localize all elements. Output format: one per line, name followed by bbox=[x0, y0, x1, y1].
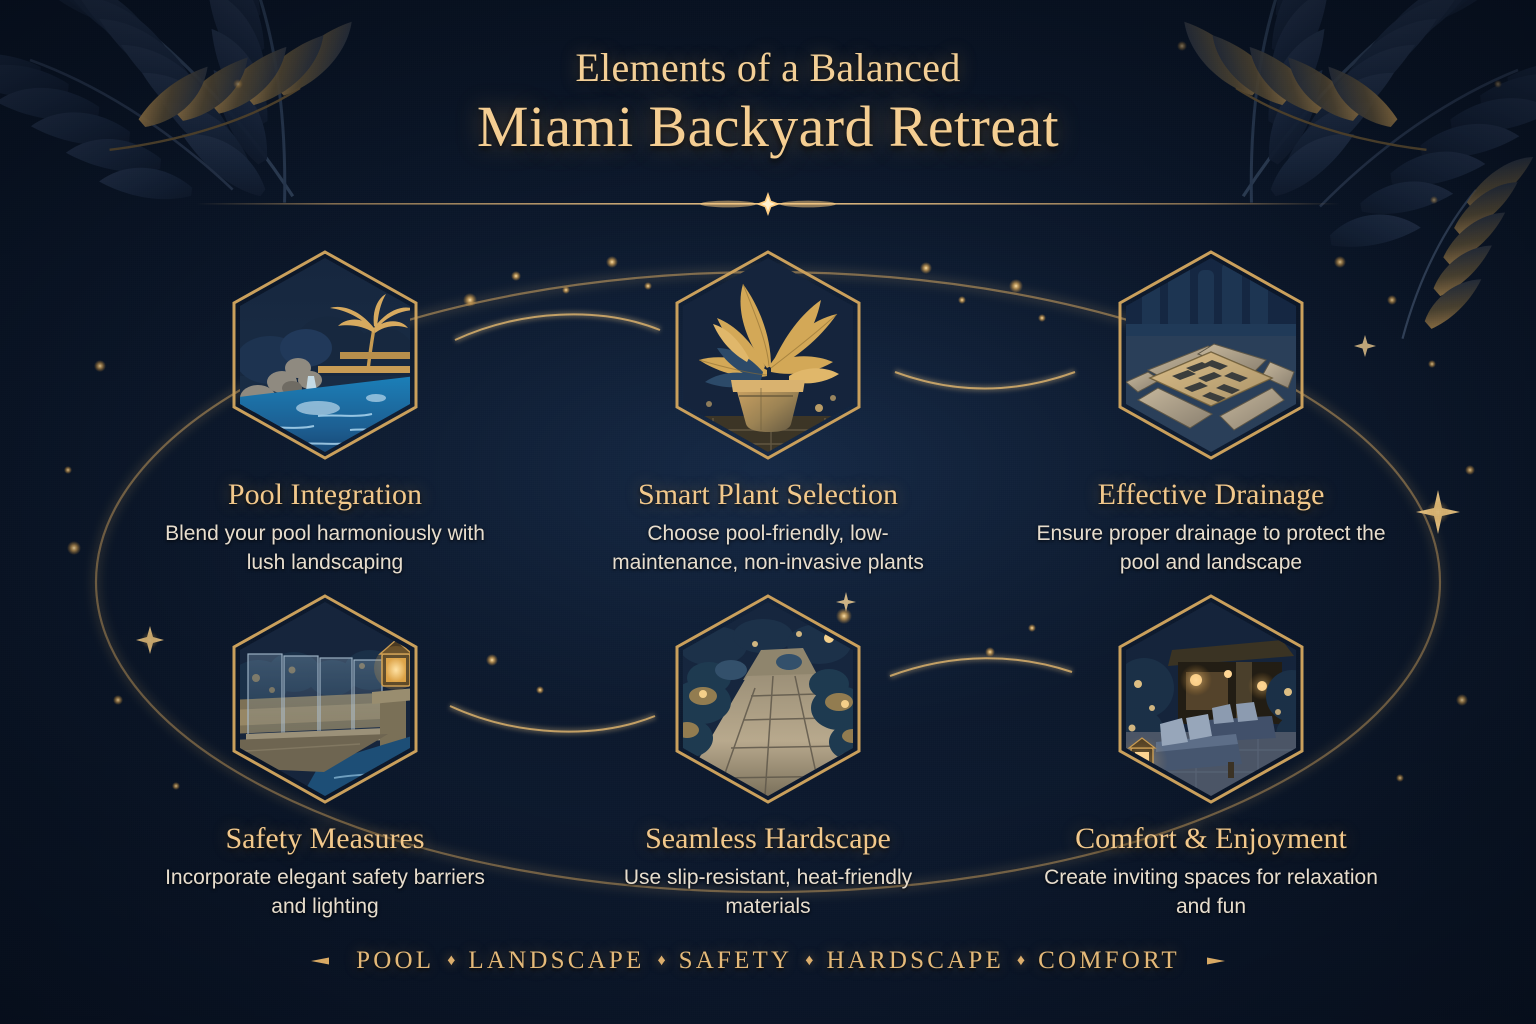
card-title: Safety Measures bbox=[125, 822, 525, 856]
hex-badge-plant[interactable] bbox=[643, 248, 893, 462]
flourish-right-icon bbox=[1193, 954, 1343, 968]
keyword-list: POOL♦LANDSCAPE♦SAFETY♦HARDSCAPE♦COMFORT bbox=[343, 947, 1193, 975]
card-pool-integration[interactable]: Pool Integration Blend your pool harmoni… bbox=[125, 248, 525, 578]
card-description: Blend your pool harmoniously with lush l… bbox=[145, 520, 505, 578]
card-description: Use slip-resistant, heat-friendly materi… bbox=[588, 864, 948, 922]
keyword-separator-icon: ♦ bbox=[657, 953, 665, 969]
infographic-poster: Elements of a Balanced Miami Backyard Re… bbox=[0, 0, 1536, 1024]
title-divider bbox=[0, 192, 1536, 216]
keyword-separator-icon: ♦ bbox=[805, 953, 813, 969]
card-title: Comfort & Enjoyment bbox=[1011, 822, 1411, 856]
card-seamless-hardscape[interactable]: Seamless Hardscape Use slip-resistant, h… bbox=[568, 592, 968, 922]
keyword-separator-icon: ♦ bbox=[447, 953, 455, 969]
page-title: Miami Backyard Retreat bbox=[0, 93, 1536, 161]
hex-badge-safety[interactable] bbox=[200, 592, 450, 806]
card-description: Create inviting spaces for relaxation an… bbox=[1031, 864, 1391, 922]
card-smart-plant-selection[interactable]: Smart Plant Selection Choose pool-friend… bbox=[568, 248, 968, 578]
card-title: Pool Integration bbox=[125, 478, 525, 512]
card-safety-measures[interactable]: Safety Measures Incorporate elegant safe… bbox=[125, 592, 525, 922]
card-title: Effective Drainage bbox=[1011, 478, 1411, 512]
flourish-left-icon bbox=[193, 954, 343, 968]
poster-header: Elements of a Balanced Miami Backyard Re… bbox=[0, 46, 1536, 161]
hex-badge-comfort[interactable] bbox=[1086, 592, 1336, 806]
keyword-separator-icon: ♦ bbox=[1017, 953, 1025, 969]
card-title: Smart Plant Selection bbox=[568, 478, 968, 512]
footer-keyword: POOL bbox=[343, 947, 447, 975]
footer-keyword: COMFORT bbox=[1025, 947, 1193, 975]
card-comfort-enjoyment[interactable]: Comfort & Enjoyment Create inviting spac… bbox=[1011, 592, 1411, 922]
hex-badge-hardscape[interactable] bbox=[643, 592, 893, 806]
footer-keyword: SAFETY bbox=[666, 947, 806, 975]
card-description: Ensure proper drainage to protect the po… bbox=[1031, 520, 1391, 578]
card-description: Choose pool-friendly, low-maintenance, n… bbox=[588, 520, 948, 578]
card-title: Seamless Hardscape bbox=[568, 822, 968, 856]
hex-badge-pool[interactable] bbox=[200, 248, 450, 462]
footer-keyword: LANDSCAPE bbox=[455, 947, 657, 975]
four-point-star-icon bbox=[700, 192, 836, 216]
card-description: Incorporate elegant safety barriers and … bbox=[145, 864, 505, 922]
card-effective-drainage[interactable]: Effective Drainage Ensure proper drainag… bbox=[1011, 248, 1411, 578]
footer-keyword: HARDSCAPE bbox=[813, 947, 1016, 975]
hex-badge-drainage[interactable] bbox=[1086, 248, 1336, 462]
footer-keyword-bar: POOL♦LANDSCAPE♦SAFETY♦HARDSCAPE♦COMFORT bbox=[0, 938, 1536, 984]
header-eyebrow: Elements of a Balanced bbox=[0, 46, 1536, 91]
